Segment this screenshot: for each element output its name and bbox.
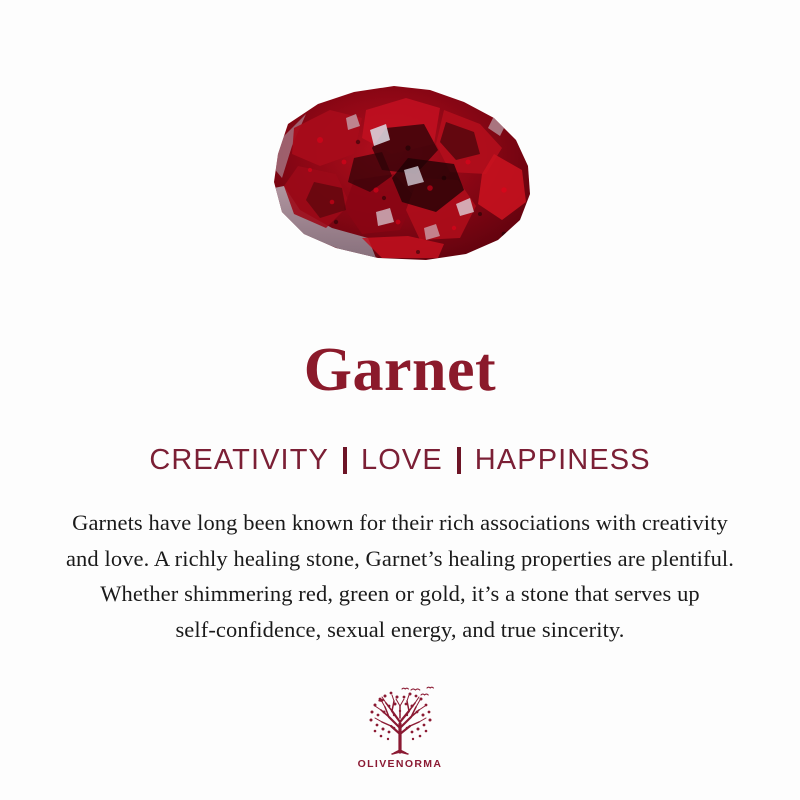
page-title: Garnet (0, 338, 800, 403)
garnet-crystal-illustration (258, 62, 544, 274)
description-line: self-confidence, sexual energy, and true… (0, 612, 800, 648)
garnet-stone-image (258, 62, 544, 274)
tree-of-life-icon (361, 684, 439, 756)
keyword-love: LOVE (361, 443, 443, 478)
product-info-card: Garnet CREATIVITYLOVEHAPPINESS Garnets h… (0, 0, 800, 800)
description-line: and love. A richly healing stone, Garnet… (0, 541, 800, 577)
description-line: Garnets have long been known for their r… (0, 505, 800, 541)
keyword-row: CREATIVITYLOVEHAPPINESS (0, 443, 800, 478)
brand-logo: OLIVENORMA (0, 684, 800, 770)
brand-wordmark: OLIVENORMA (358, 758, 443, 770)
description-text: Garnets have long been known for their r… (0, 505, 800, 647)
keyword-separator (457, 447, 461, 474)
description-line: Whether shimmering red, green or gold, i… (0, 576, 800, 612)
keyword-separator (343, 447, 347, 474)
keyword-creativity: CREATIVITY (149, 443, 329, 478)
keyword-happiness: HAPPINESS (475, 443, 651, 478)
